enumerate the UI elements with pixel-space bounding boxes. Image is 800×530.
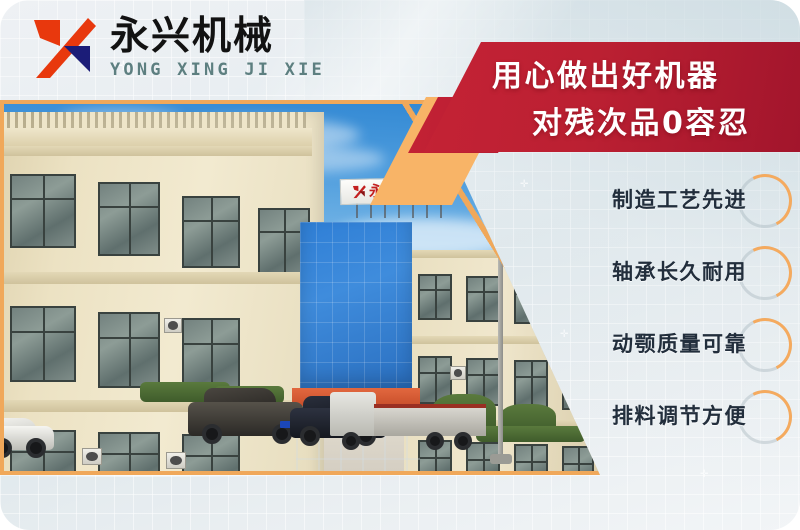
slogan-line-1: 用心做出好机器 [492,51,720,95]
ac-unit-icon [166,452,186,469]
glass-curtain-wall [300,222,412,390]
brand-header: 永兴机械 YONG XING JI XIE [0,0,440,100]
feature-item-1: 轴承长久耐用 [596,244,800,316]
window [514,360,548,408]
xy-monogram-logo-icon [34,16,96,80]
logo-text-block: 永兴机械 YONG XING JI XIE [110,17,325,79]
ac-unit-icon [450,366,466,380]
window [98,432,160,475]
ac-unit-icon [164,318,182,333]
slogan-line-2: 对残次品0容忍 [532,98,750,142]
pole-base [490,454,512,464]
feature-list: 制造工艺先进 轴承长久耐用 动颚质量可靠 排料调节方便 [596,172,800,460]
vehicle-white-car [0,418,54,458]
sparkle-icon: ✛ [560,330,568,340]
window [10,174,76,248]
feature-item-2: 动颚质量可靠 [596,316,800,388]
feature-label: 轴承长久耐用 [612,256,747,286]
window [418,274,452,320]
sparkle-icon: ✛ [520,180,528,190]
brand-name-cn: 永兴机械 [110,17,325,56]
feature-item-0: 制造工艺先进 [596,172,800,244]
hedge [476,426,586,442]
light-pole [498,230,503,458]
vehicle-flatbed-truck [330,392,488,450]
brand-name-pinyin: YONG XING JI XIE [110,62,325,79]
promo-banner-stage: ✛ ✛ ✛ ✛ 永兴机械 YONG XING JI XIE [0,0,800,530]
xy-monogram-logo-icon [353,185,366,199]
feature-label: 排料调节方便 [612,400,747,430]
sparkle-icon: ✛ [700,470,708,480]
vehicle-suv [188,388,304,444]
window [182,196,240,268]
window [10,306,76,382]
window [98,182,160,256]
slogan-banner: 用心做出好机器 对残次品0容忍 [424,42,800,152]
feature-label: 动颚质量可靠 [612,328,747,358]
feature-item-3: 排料调节方便 [596,388,800,460]
window [514,444,548,475]
ac-unit-icon [82,448,102,465]
window [466,276,500,322]
feature-label: 制造工艺先进 [612,184,747,214]
window [98,312,160,388]
logo-lockup[interactable]: 永兴机械 YONG XING JI XIE [34,16,325,80]
